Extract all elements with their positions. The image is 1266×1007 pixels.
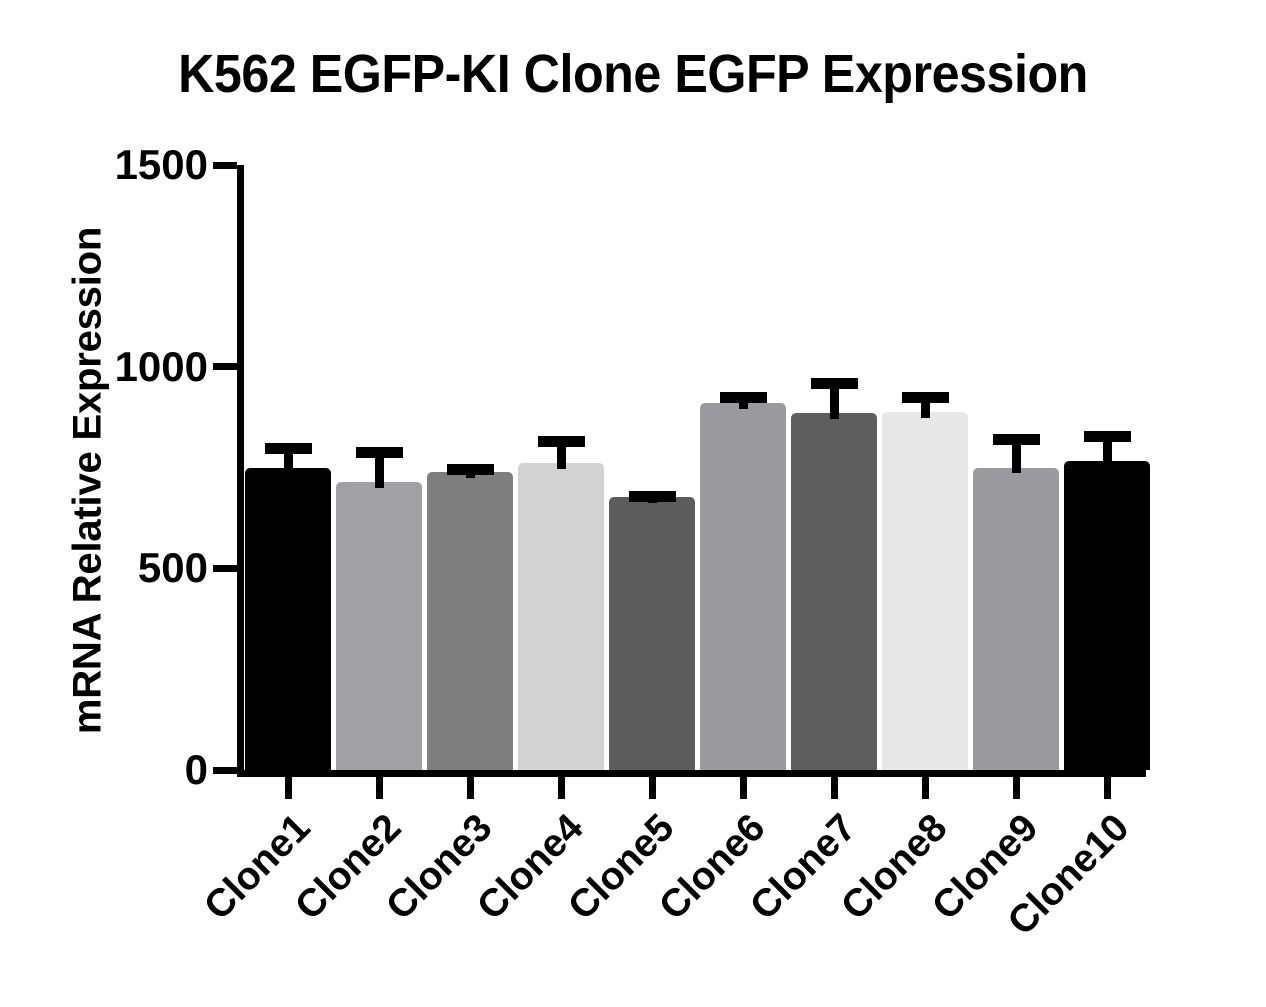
bar: [609, 497, 695, 770]
y-axis-tick-label: 0: [0, 749, 208, 791]
x-axis-tick: [831, 777, 838, 799]
x-axis-tick: [285, 777, 292, 799]
bar: [336, 482, 422, 770]
bar: [791, 413, 877, 770]
error-bar-cap: [265, 443, 312, 454]
x-axis-tick: [740, 777, 747, 799]
y-axis-tick: [213, 767, 237, 774]
error-bar-cap: [993, 434, 1040, 445]
bar: [1064, 461, 1150, 770]
chart-figure: K562 EGFP-KI Clone EGFP Expression mRNA …: [0, 0, 1266, 1000]
y-axis-tick-label: 500: [0, 547, 208, 589]
y-axis-spine: [237, 165, 244, 777]
error-bar-cap: [902, 392, 949, 403]
bar: [427, 472, 513, 770]
x-axis-tick: [922, 777, 929, 799]
error-bar-cap: [811, 378, 858, 389]
x-axis-tick: [649, 777, 656, 799]
y-axis-tick: [213, 162, 237, 169]
x-axis-tick: [1013, 777, 1020, 799]
x-axis-spine: [237, 770, 1146, 777]
bar: [700, 403, 786, 770]
x-axis-tick: [558, 777, 565, 799]
y-axis-tick: [213, 565, 237, 572]
error-bar-cap: [720, 392, 767, 403]
x-axis-tick: [467, 777, 474, 799]
plot-area: 050010001500 Clone1Clone2Clone3Clone4Clo…: [0, 0, 1266, 1000]
x-axis-tick: [1104, 777, 1111, 799]
error-bar-cap: [447, 464, 494, 475]
y-axis-tick-label: 1500: [0, 144, 208, 186]
bar: [882, 412, 968, 770]
error-bar-cap: [1084, 431, 1131, 442]
bar: [518, 463, 604, 770]
error-bar-cap: [356, 447, 403, 458]
bar: [973, 468, 1059, 771]
error-bar-cap: [629, 491, 676, 502]
x-axis-tick: [376, 777, 383, 799]
y-axis-tick-label: 1000: [0, 346, 208, 388]
y-axis-tick: [213, 363, 237, 370]
bar: [245, 468, 331, 771]
error-bar-cap: [538, 436, 585, 447]
